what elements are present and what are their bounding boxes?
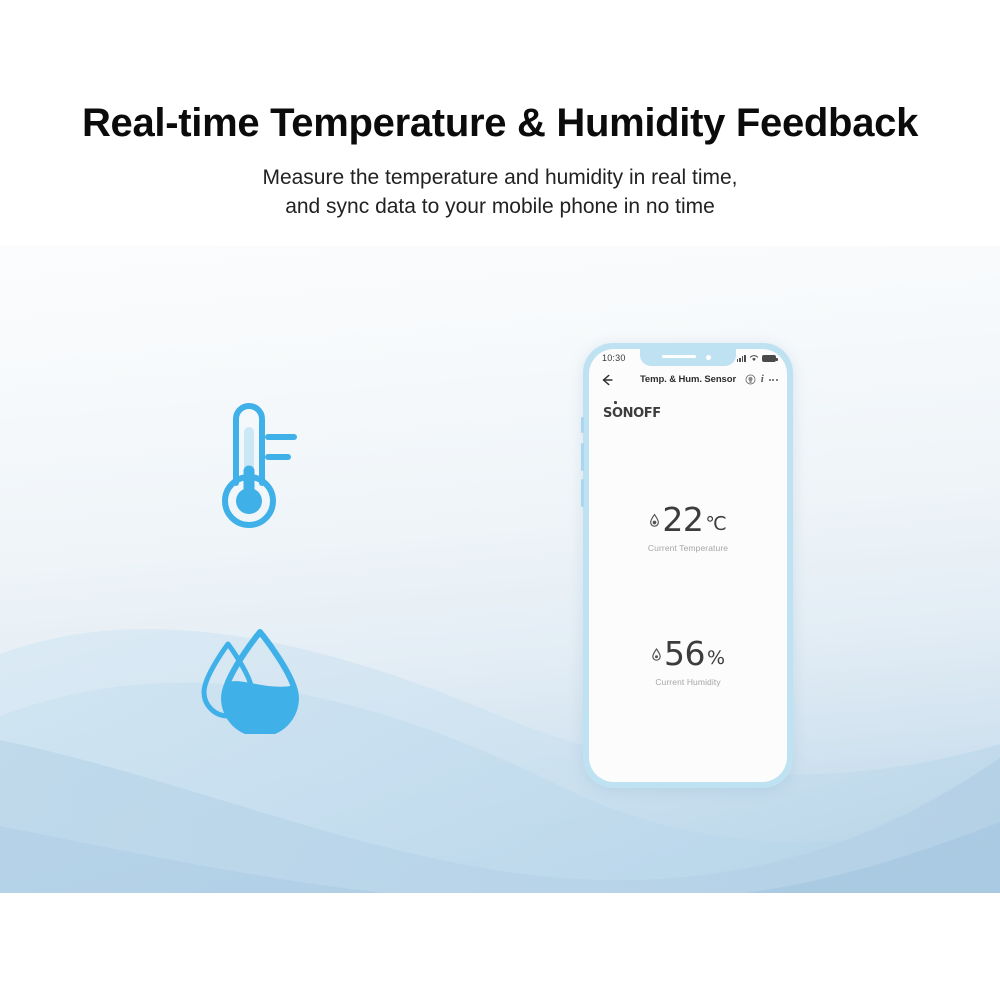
bulb-icon[interactable] bbox=[745, 374, 756, 385]
footer-spacer bbox=[0, 893, 1000, 1000]
phone-notch bbox=[640, 349, 736, 366]
signal-bars-icon bbox=[737, 354, 746, 362]
status-icons bbox=[737, 354, 776, 362]
wifi-icon bbox=[749, 354, 759, 362]
drop-fill bbox=[220, 681, 300, 734]
info-icon[interactable]: i bbox=[761, 374, 764, 385]
app-nav-bar: Temp. & Hum. Sensor i bbox=[589, 369, 787, 393]
page-title: Real-time Temperature & Humidity Feedbac… bbox=[0, 99, 1000, 147]
humidity-label: Current Humidity bbox=[589, 677, 787, 687]
thermometer-glyph-icon bbox=[649, 513, 660, 528]
background-waves bbox=[0, 246, 1000, 893]
phone-side-button-volume-down[interactable] bbox=[581, 479, 584, 507]
temperature-reading: 22 ℃ Current Temperature bbox=[589, 503, 787, 553]
page-subtitle: Measure the temperature and humidity in … bbox=[0, 163, 1000, 221]
nav-actions: i bbox=[745, 374, 778, 385]
phone-side-button-mute[interactable] bbox=[581, 417, 584, 433]
product-feature-page: Real-time Temperature & Humidity Feedbac… bbox=[0, 0, 1000, 1000]
water-drop-icon bbox=[190, 624, 308, 734]
phone-side-button-volume-up[interactable] bbox=[581, 443, 584, 471]
header-section: Real-time Temperature & Humidity Feedbac… bbox=[0, 0, 1000, 246]
temperature-value-row: 22 ℃ bbox=[589, 503, 787, 537]
temperature-value: 22 bbox=[662, 503, 703, 537]
battery-icon bbox=[762, 355, 776, 362]
sonoff-logo: SONOFF bbox=[603, 404, 661, 422]
humidity-reading: 56 % Current Humidity bbox=[589, 637, 787, 687]
humidity-value: 56 bbox=[664, 637, 705, 671]
phone-mockup: 10:30 bbox=[583, 343, 793, 788]
humidity-value-row: 56 % bbox=[589, 637, 787, 671]
thermometer-icon bbox=[198, 397, 308, 537]
humidity-drop-glyph-icon bbox=[651, 647, 662, 662]
sonoff-logo-text: SONOFF bbox=[603, 406, 661, 421]
subtitle-line-1: Measure the temperature and humidity in … bbox=[262, 166, 737, 189]
illustration-panel: 10:30 bbox=[0, 246, 1000, 893]
temperature-label: Current Temperature bbox=[589, 543, 787, 553]
more-dots-icon[interactable] bbox=[769, 379, 778, 381]
status-time: 10:30 bbox=[602, 353, 626, 363]
phone-screen: 10:30 bbox=[589, 349, 787, 782]
subtitle-line-2: and sync data to your mobile phone in no… bbox=[0, 192, 1000, 221]
front-camera bbox=[706, 355, 711, 360]
earpiece-speaker bbox=[662, 355, 696, 358]
sonoff-logo-dot bbox=[614, 401, 617, 404]
temperature-unit: ℃ bbox=[705, 514, 726, 537]
humidity-unit: % bbox=[707, 648, 725, 671]
